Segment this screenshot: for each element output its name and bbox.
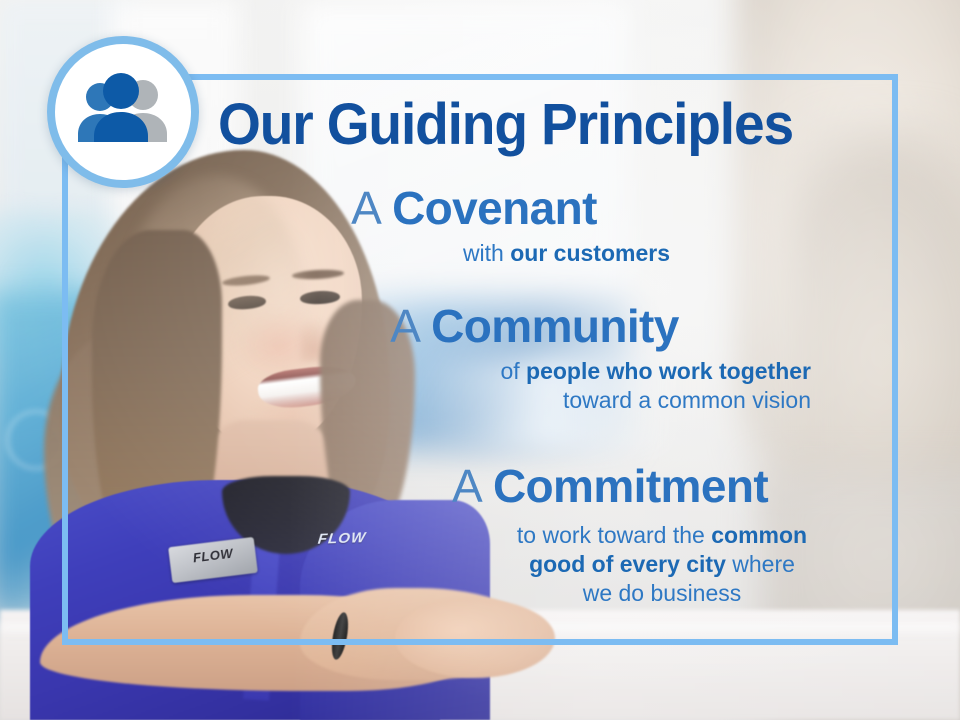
subtext-emphasis: people who work together [526, 358, 811, 384]
people-group-icon [71, 73, 175, 151]
people-icon-badge [47, 36, 199, 188]
subtext-emphasis: our customers [510, 240, 670, 266]
principle-subtext: to work toward the common good of every … [452, 521, 872, 608]
shirt-logo: FLOW [305, 529, 379, 550]
subtext-line: toward a common vision [340, 386, 811, 415]
guiding-principles-banner: FLOW FLOW Our Guiding Principles [0, 0, 960, 720]
principle-keyword: Covenant [392, 182, 597, 234]
subtext-plain: toward a common vision [563, 387, 811, 413]
subtext-plain: of [500, 358, 526, 384]
subtext-emphasis: common [711, 522, 807, 548]
principle-heading: A Commitment [452, 462, 872, 511]
subtext-line: to work toward the common [452, 521, 872, 550]
principle-article: A [351, 182, 392, 234]
principle-block-community: A Community of people who work together … [340, 302, 815, 415]
employee-hands [395, 598, 555, 678]
principle-block-commitment: A Commitment to work toward the common g… [452, 462, 872, 608]
subtext-emphasis: good of every city [529, 551, 726, 577]
principle-article: A [452, 460, 493, 512]
subtext-plain: to work toward the [517, 522, 711, 548]
principle-block-covenant: A Covenant with our customers [300, 184, 670, 268]
principle-subtext: with our customers [300, 239, 670, 268]
principle-heading: A Community [340, 302, 815, 351]
subtext-line: we do business [452, 579, 872, 608]
principle-keyword: Community [431, 300, 679, 352]
subtext-plain: with [463, 240, 510, 266]
subtext-line: of people who work together [340, 357, 811, 386]
subtext-line: good of every city where [452, 550, 872, 579]
page-title: Our Guiding Principles [218, 96, 793, 154]
principle-heading: A Covenant [300, 184, 670, 233]
subtext-plain: where [726, 551, 795, 577]
principle-article: A [390, 300, 431, 352]
subtext-plain: we do business [583, 580, 742, 606]
principle-subtext: of people who work together toward a com… [340, 357, 815, 415]
principle-keyword: Commitment [493, 460, 768, 512]
subtext-line: with our customers [463, 240, 670, 266]
